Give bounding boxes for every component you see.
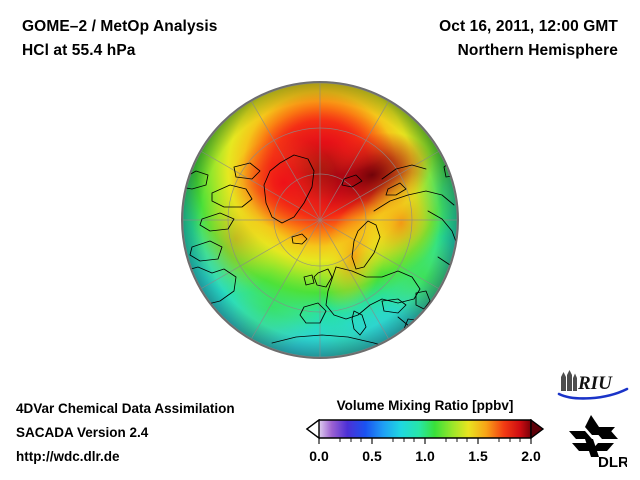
colorbar-tick-label-3: 1.5	[468, 448, 488, 464]
colorbar: Volume Mixing Ratio [ppbv]	[305, 398, 545, 468]
globe-map	[176, 71, 464, 367]
footer-url[interactable]: http://wdc.dlr.de	[16, 449, 120, 464]
footer-line-1: 4DVar Chemical Data Assimilation	[16, 401, 235, 416]
colorbar-ticks	[319, 438, 531, 444]
datetime-label: Oct 16, 2011, 12:00 GMT	[439, 18, 618, 36]
colorbar-min-arrow	[307, 420, 319, 438]
colorbar-tick-label-1: 0.5	[362, 448, 382, 464]
dlr-logo-svg: DLR	[565, 413, 627, 471]
species-level-label: HCl at 55.4 hPa	[22, 42, 136, 60]
colorbar-svg: 0.0 0.5 1.0 1.5 2.0	[305, 419, 545, 468]
colorbar-title: Volume Mixing Ratio [ppbv]	[305, 398, 545, 413]
footer-line-2: SACADA Version 2.4	[16, 425, 148, 440]
region-label: Northern Hemisphere	[458, 42, 618, 60]
colorbar-tick-label-4: 2.0	[521, 448, 541, 464]
colorbar-tick-label-0: 0.0	[309, 448, 329, 464]
colorbar-ramp	[307, 420, 531, 438]
riu-logo: RIU	[557, 369, 629, 406]
dlr-logo: DLR	[565, 413, 627, 476]
dlr-logo-text: DLR	[598, 454, 627, 471]
riu-towers-icon	[561, 370, 577, 391]
dlr-emblem-icon	[569, 415, 618, 457]
page-title: GOME–2 / MetOp Analysis	[22, 18, 218, 36]
colorbar-max-arrow	[531, 420, 543, 438]
colorbar-tick-label-2: 1.0	[415, 448, 435, 464]
riu-logo-text: RIU	[577, 373, 613, 394]
globe-svg	[176, 71, 464, 367]
riu-logo-svg: RIU	[557, 369, 629, 401]
visualization-page: GOME–2 / MetOp Analysis HCl at 55.4 hPa …	[0, 0, 640, 480]
